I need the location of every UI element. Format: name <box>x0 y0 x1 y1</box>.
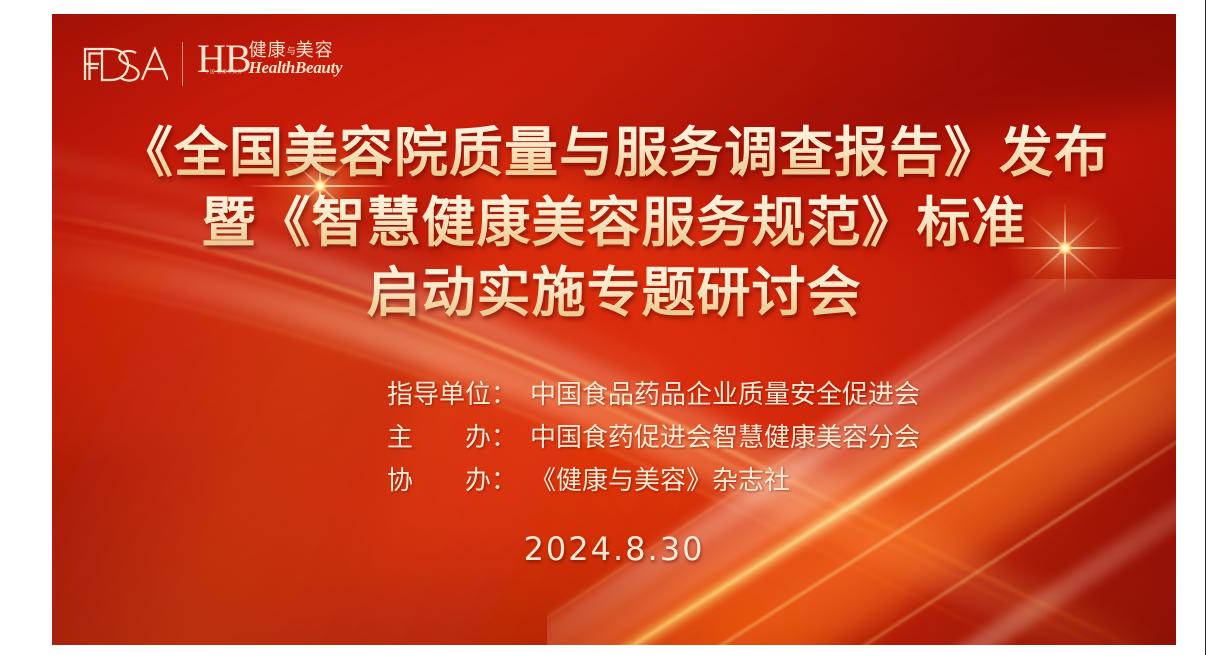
event-banner: HB 中国·健康与美容 健康与美容 HealthBeauty 《全国美容院质量与… <box>52 14 1176 645</box>
event-title-line-1: 《全国美容院质量与服务调查报告》发布 <box>52 118 1176 188</box>
event-title-line-2: 暨《智慧健康美容服务规范》标准 <box>52 188 1176 258</box>
organizer-row: 指导单位： 中国食品药品企业质量安全促进会 <box>387 376 920 414</box>
event-title-block: 《全国美容院质量与服务调查报告》发布 暨《智慧健康美容服务规范》标准 启动实施专… <box>52 118 1176 328</box>
event-date: 2024.8.30 <box>52 530 1176 568</box>
logo-divider <box>182 42 183 86</box>
organizer-label: 主 办： <box>387 419 530 457</box>
brand-logo-lockup: HB 中国·健康与美容 健康与美容 HealthBeauty <box>80 36 342 92</box>
hb-monogram-microtext: 中国·健康与美容 <box>205 69 243 75</box>
fdsa-logo-icon <box>80 43 168 85</box>
organizer-row: 主 办： 中国食药促进会智慧健康美容分会 <box>387 419 920 457</box>
organizer-label: 指导单位： <box>387 376 530 414</box>
hb-english-name: HealthBeauty <box>249 59 343 76</box>
organizer-label: 协 办： <box>387 462 530 500</box>
event-title-line-3: 启动实施专题研讨会 <box>52 258 1176 328</box>
page-root: HB 中国·健康与美容 健康与美容 HealthBeauty 《全国美容院质量与… <box>0 0 1227 655</box>
organizer-value: 中国食药促进会智慧健康美容分会 <box>530 419 920 457</box>
organizer-value: 《健康与美容》杂志社 <box>530 462 790 500</box>
window-right-edge <box>1205 0 1206 655</box>
organizer-value: 中国食品药品企业质量安全促进会 <box>530 376 920 414</box>
hb-brand-lockup: HB 中国·健康与美容 健康与美容 HealthBeauty <box>197 40 342 88</box>
organizer-list: 指导单位： 中国食品药品企业质量安全促进会 主 办： 中国食药促进会智慧健康美容… <box>387 376 920 500</box>
organizer-row: 协 办： 《健康与美容》杂志社 <box>387 462 920 500</box>
